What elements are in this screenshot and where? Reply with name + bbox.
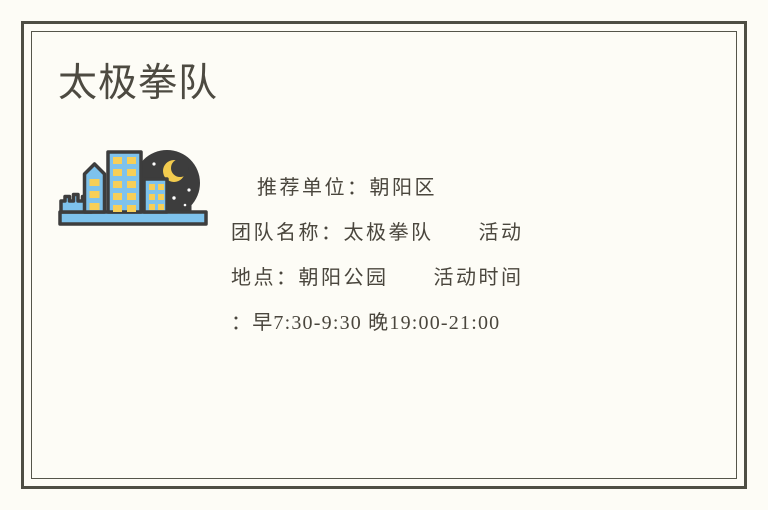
night-city-icon: [56, 142, 210, 228]
page-title: 太极拳队: [58, 60, 218, 108]
info-line-recommending-unit: 推荐单位：朝阳区: [231, 166, 651, 211]
info-block: 推荐单位：朝阳区 团队名称：太极拳队 活动 地点：朝阳公园 活动时间 ：早7:3…: [231, 166, 651, 346]
info-line-team-name: 团队名称：太极拳队 活动: [231, 211, 651, 256]
info-line-activity-time: ：早7:30-9:30 晚19:00-21:00: [231, 301, 651, 346]
card-page: 太极拳队: [0, 0, 768, 510]
info-line-location: 地点：朝阳公园 活动时间: [231, 256, 651, 301]
